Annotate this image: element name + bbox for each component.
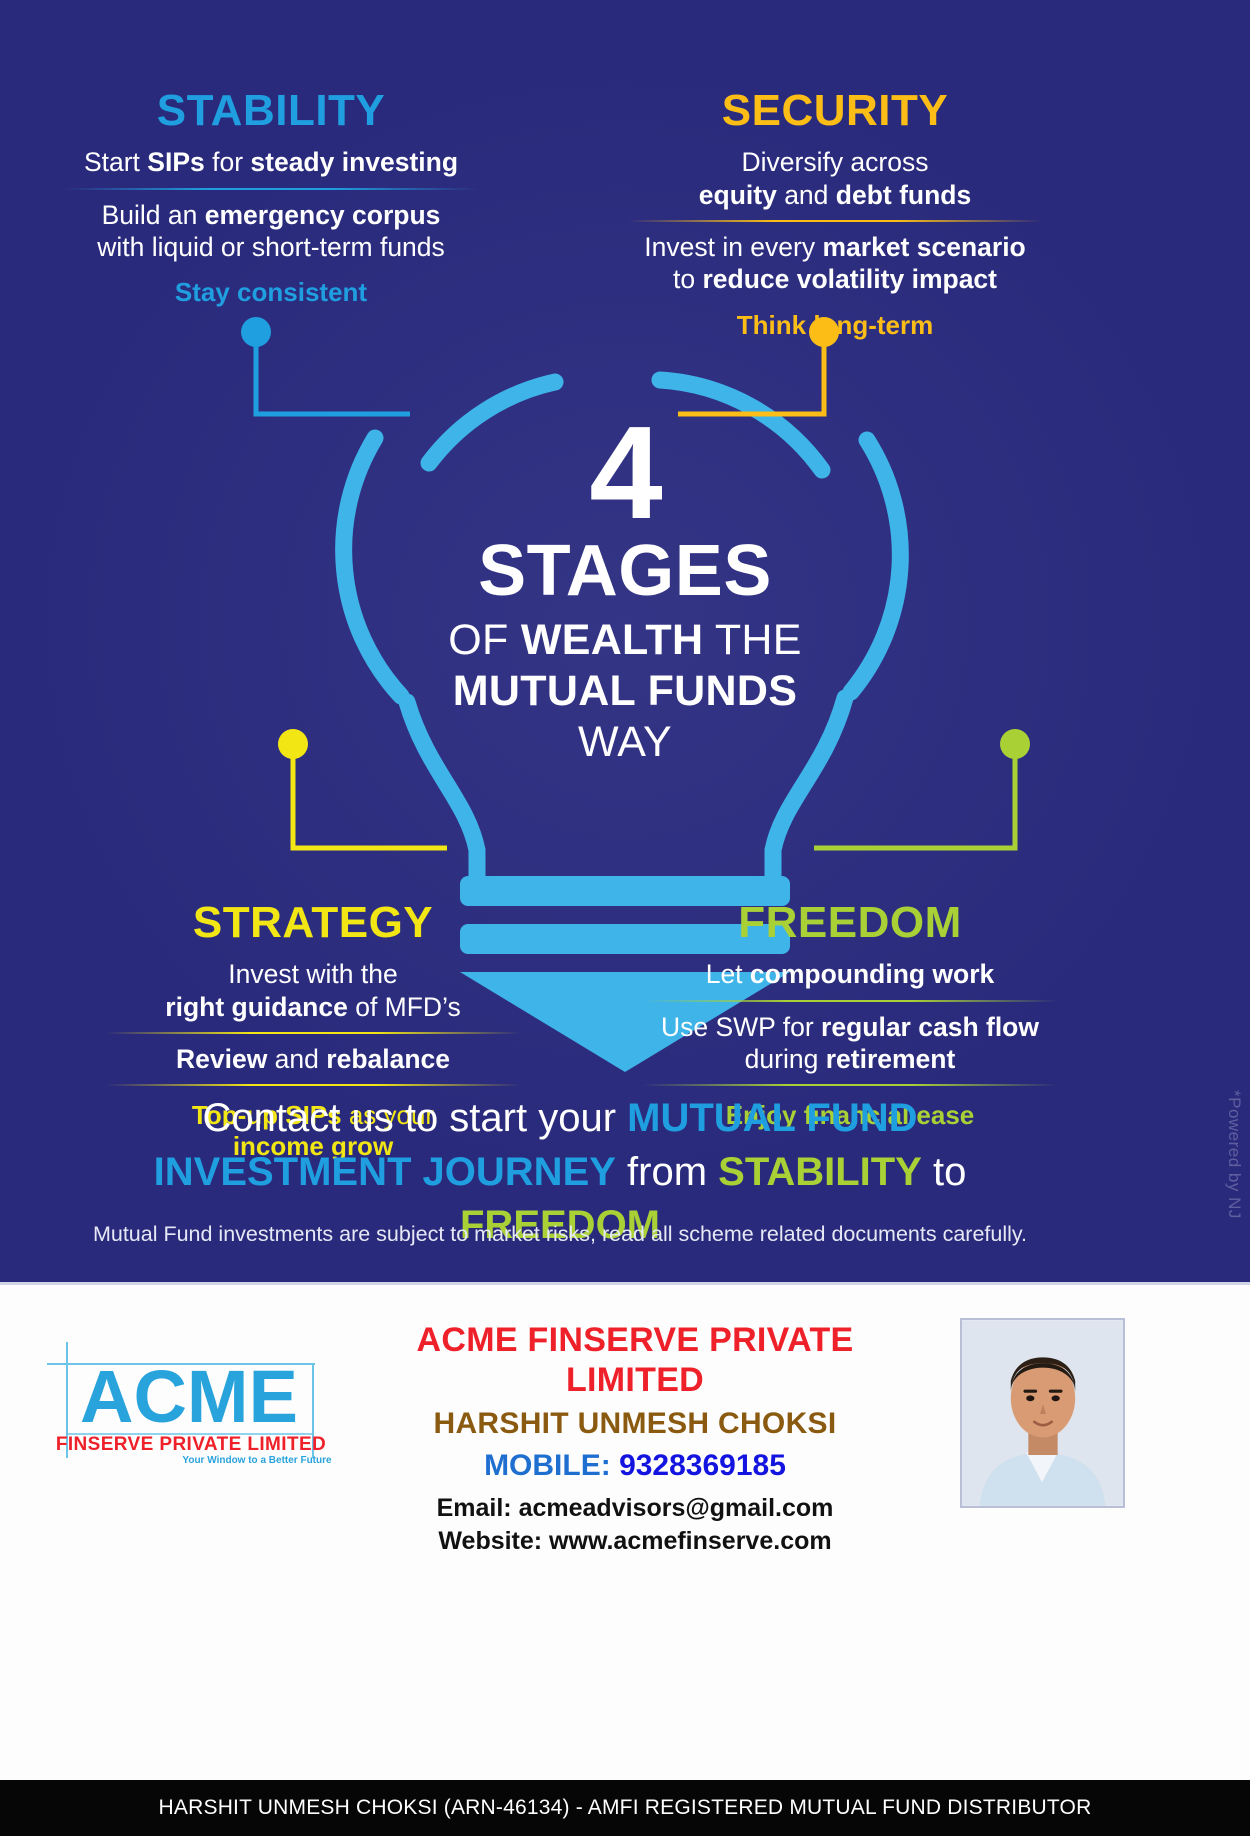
stage-count: 4: [330, 412, 920, 533]
connector-dot-stability: [241, 317, 271, 347]
text-run: to: [922, 1150, 966, 1194]
connector-stability: [256, 332, 410, 414]
connector-dot-strategy: [278, 729, 308, 759]
advisor-photo: [960, 1318, 1125, 1508]
quadrant-freedom-divider: [643, 1000, 1057, 1002]
advisor-photo-svg: [962, 1320, 1123, 1506]
text-run: from: [616, 1150, 718, 1194]
text-run-bold: retirement: [826, 1044, 956, 1074]
quadrant-freedom-title: FREEDOM: [615, 900, 1085, 946]
text-run: with liquid or short-term funds: [97, 232, 445, 262]
quadrant-security-tag: Think long-term: [600, 310, 1070, 341]
quadrant-strategy-divider-2: [106, 1084, 520, 1086]
risk-disclaimer: Mutual Fund investments are subject to m…: [40, 1222, 1080, 1247]
text-run-bold: emergency corpus: [205, 200, 441, 230]
acme-logo-tagline: Your Window to a Better Future: [182, 1455, 332, 1465]
text-run-bold: rebalance: [326, 1044, 450, 1074]
headline-wealth: WEALTH: [521, 616, 704, 664]
quadrant-freedom-divider-2: [643, 1084, 1057, 1086]
text-run: of MFD’s: [348, 992, 461, 1022]
mobile-line: MOBILE: 9328369185: [345, 1449, 925, 1483]
headline-the: THE: [703, 616, 801, 664]
text-run-bold: regular cash flow: [821, 1012, 1039, 1042]
text-run: and: [267, 1044, 326, 1074]
quadrant-strategy-title: STRATEGY: [78, 900, 548, 946]
quadrant-stability-title: STABILITY: [36, 88, 506, 134]
quadrant-stability-divider: [64, 188, 478, 190]
text-run: for: [205, 147, 251, 177]
text-run: Let: [706, 959, 750, 989]
text-run-bold: steady investing: [250, 147, 458, 177]
text-run-bold: equity: [699, 180, 777, 210]
quadrant-stability-line-1: Start SIPs for steady investing: [36, 146, 506, 178]
quadrant-security-title: SECURITY: [600, 88, 1070, 134]
quadrant-security: SECURITY Diversify acrossequity and debt…: [600, 88, 1070, 341]
arn-disclaimer-bar: HARSHIT UNMESH CHOKSI (ARN-46134) - AMFI…: [0, 1780, 1250, 1836]
contact-details: ACME FINSERVE PRIVATE LIMITED HARSHIT UN…: [345, 1320, 925, 1557]
text-run: Invest in every: [644, 232, 822, 262]
quadrant-strategy-line-1: Invest with theright guidance of MFD’s: [78, 958, 548, 1023]
headline-of: OF: [448, 616, 521, 664]
text-run: Diversify across: [741, 147, 928, 177]
text-run-bold: reduce volatility impact: [702, 264, 997, 294]
text-run: Contact us to start your: [203, 1096, 628, 1140]
headline-line-4: MUTUAL FUNDS: [330, 666, 920, 717]
acme-logo-brand: ACME: [80, 1355, 298, 1438]
mobile-number[interactable]: 9328369185: [619, 1449, 786, 1482]
text-run-bold: SIPs: [147, 147, 204, 177]
text-run: during: [745, 1044, 826, 1074]
powered-by-label: *Powered by NJ: [1224, 1090, 1244, 1219]
cta-line-1: Contact us to start your MUTUAL FUND: [60, 1092, 1060, 1146]
text-run-bold: debt funds: [836, 180, 971, 210]
quadrant-stability: STABILITY Start SIPs for steady investin…: [36, 88, 506, 308]
email-line[interactable]: Email: acmeadvisors@gmail.com: [345, 1492, 925, 1525]
quadrant-strategy-line-2: Review and rebalance: [78, 1043, 548, 1075]
text-run-bold: right guidance: [165, 992, 348, 1022]
text-run: Invest with the: [228, 959, 397, 989]
quadrant-security-line-2: Invest in every market scenarioto reduce…: [600, 231, 1070, 296]
acme-logo-svg: ACME FINSERVE PRIVATE LIMITED Your Windo…: [45, 1330, 335, 1465]
headline-line-3: OF WEALTH THE: [330, 615, 920, 666]
footer: ACME FINSERVE PRIVATE LIMITED Your Windo…: [0, 1282, 1250, 1780]
connector-dot-freedom: [1000, 729, 1030, 759]
text-run: Use SWP for: [661, 1012, 821, 1042]
quadrant-freedom-line-2: Use SWP for regular cash flowduring reti…: [615, 1011, 1085, 1076]
acme-logo: ACME FINSERVE PRIVATE LIMITED Your Windo…: [45, 1330, 335, 1465]
company-name: ACME FINSERVE PRIVATE LIMITED: [345, 1320, 925, 1400]
text-run: and: [777, 180, 836, 210]
quadrant-freedom-line-1: Let compounding work: [615, 958, 1085, 990]
text-run-bold: compounding work: [750, 959, 994, 989]
center-headline: 4 STAGES OF WEALTH THE MUTUAL FUNDS WAY: [330, 412, 920, 768]
mobile-label: MOBILE:: [484, 1449, 611, 1482]
advisor-name: HARSHIT UNMESH CHOKSI: [345, 1404, 925, 1443]
text-run: Start: [84, 147, 147, 177]
website-line[interactable]: Website: www.acmefinserve.com: [345, 1525, 925, 1558]
text-run-accent: STABILITY: [718, 1150, 922, 1194]
footer-separator: [0, 1282, 1250, 1285]
stages-word: STAGES: [330, 535, 920, 607]
connector-security: [678, 332, 824, 414]
text-run-bold: Review: [176, 1044, 267, 1074]
text-run-accent: MUTUAL FUND: [627, 1096, 917, 1140]
quadrant-security-divider: [628, 220, 1042, 222]
arn-disclaimer-text: HARSHIT UNMESH CHOKSI (ARN-46134) - AMFI…: [159, 1796, 1092, 1820]
quadrant-security-line-1: Diversify acrossequity and debt funds: [600, 146, 1070, 211]
text-run-accent: INVESTMENT JOURNEY: [154, 1150, 616, 1194]
infographic-poster: 4 STAGES OF WEALTH THE MUTUAL FUNDS WAY …: [0, 0, 1250, 1836]
headline-line-5: WAY: [330, 717, 920, 768]
quadrant-stability-line-2: Build an emergency corpuswith liquid or …: [36, 199, 506, 264]
acme-logo-sub: FINSERVE PRIVATE LIMITED: [56, 1434, 326, 1455]
quadrant-stability-tag: Stay consistent: [36, 277, 506, 308]
quadrant-strategy-divider: [106, 1032, 520, 1034]
text-run-bold: market scenario: [822, 232, 1025, 262]
text-run: Build an: [102, 200, 205, 230]
text-run: to: [673, 264, 702, 294]
